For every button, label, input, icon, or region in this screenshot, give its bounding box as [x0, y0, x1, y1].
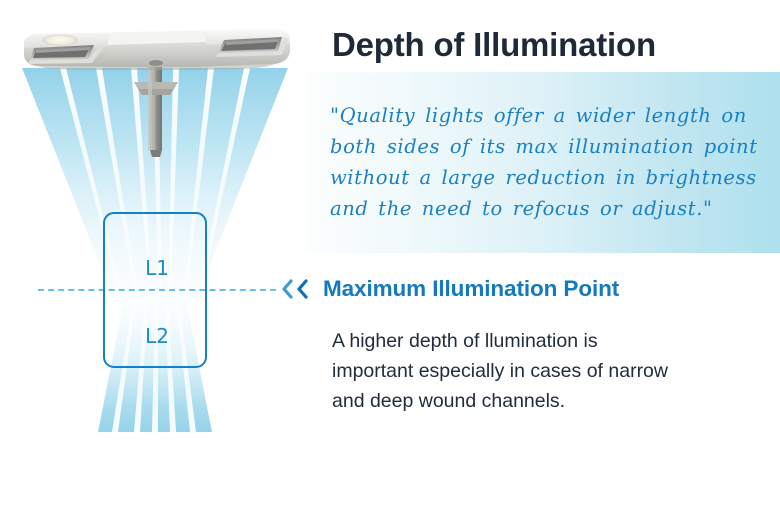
maximum-illumination-label: Maximum Illumination Point: [323, 276, 619, 302]
right-lamp-panel: [216, 37, 288, 57]
body-line: and deep wound channels.: [332, 386, 732, 416]
page-title: Depth of Illumination: [332, 26, 656, 64]
quote-line: without a large reduction in brightness: [330, 162, 760, 193]
infographic-canvas: L1 L2 Depth of Illumination "Quality lig…: [0, 0, 780, 520]
quote-line: "Quality lights offer a wider length on: [330, 100, 760, 131]
maximum-illumination-callout: Maximum Illumination Point: [281, 275, 619, 303]
lamp-glow-icon: [42, 35, 78, 46]
body-line: A higher depth of llumination is: [332, 326, 732, 356]
depth-segment-label-l2: L2: [105, 324, 209, 348]
post-cap: [149, 60, 163, 66]
quote-text: "Quality lights offer a wider length on …: [330, 100, 760, 224]
depth-box: L1 L2: [103, 212, 207, 368]
chevron-left-icon: [281, 279, 294, 299]
left-lamp-panel: [28, 45, 104, 64]
depth-segment-label-l1: L1: [105, 256, 209, 280]
body-line: important especially in cases of narrow: [332, 356, 732, 386]
quote-line: both sides of its max illumination point: [330, 131, 760, 162]
chevron-left-icon: [296, 279, 309, 299]
illumination-diagram: L1 L2: [0, 0, 320, 470]
quote-line: and the need to refocus or adjust.": [330, 193, 760, 224]
body-paragraph: A higher depth of llumination is importa…: [332, 326, 732, 416]
